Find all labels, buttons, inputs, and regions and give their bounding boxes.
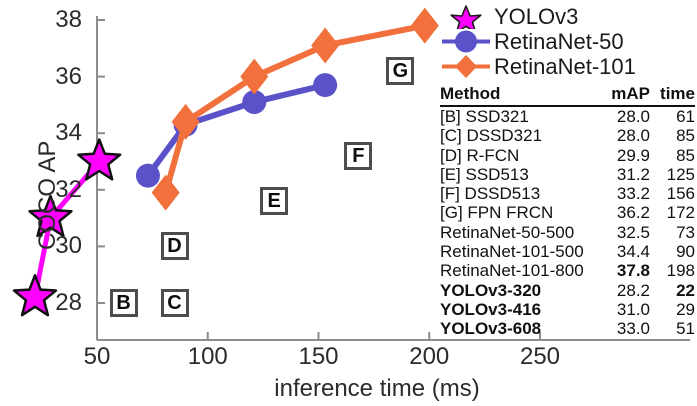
table-cell-method: RetinaNet-50-500 bbox=[440, 223, 592, 243]
table-cell-time: 73 bbox=[650, 223, 695, 243]
annotation-box-b: B bbox=[110, 289, 138, 317]
x-tick-200: 200 bbox=[389, 345, 469, 369]
series-line-retinanet-101 bbox=[166, 26, 425, 193]
chart-legend: YOLOv3 RetinaNet-50 RetinaNet-101 bbox=[438, 4, 694, 79]
table-cell-method: RetinaNet-101-800 bbox=[440, 261, 592, 281]
table-cell-map: 33.0 bbox=[592, 319, 650, 339]
table-cell-time: 51 bbox=[650, 319, 695, 339]
table-cell-time: 125 bbox=[650, 165, 695, 185]
legend-item: RetinaNet-50 bbox=[438, 29, 694, 54]
table-cell-time: 29 bbox=[650, 300, 695, 320]
table-cell-map: 28.2 bbox=[592, 281, 650, 301]
x-axis-title: inference time (ms) bbox=[207, 375, 547, 403]
chart-root: 283032343638 50100150200250 inference ti… bbox=[0, 0, 697, 406]
table-cell-map: 34.4 bbox=[592, 242, 650, 262]
table-cell-time: 61 bbox=[650, 107, 695, 127]
table-row: [F] DSSD51333.2156 bbox=[440, 184, 695, 203]
y-tick-38: 38 bbox=[22, 8, 82, 32]
annotation-box-g: G bbox=[386, 57, 414, 85]
annotation-box-d: D bbox=[161, 232, 189, 260]
annotation-box-f: F bbox=[344, 142, 372, 170]
table-cell-method: YOLOv3-608 bbox=[440, 319, 592, 339]
legend-swatch-retinanet50 bbox=[438, 29, 494, 54]
table-cell-map: 32.5 bbox=[592, 223, 650, 243]
legend-label-retinanet50: RetinaNet-50 bbox=[494, 31, 624, 53]
table-cell-time: 172 bbox=[650, 203, 695, 223]
table-cell-map: 29.9 bbox=[592, 146, 650, 166]
data-point-retinanet-50-800 bbox=[313, 73, 337, 97]
table-cell-method: [D] R-FCN bbox=[440, 146, 592, 166]
table-cell-method: YOLOv3-320 bbox=[440, 281, 592, 301]
data-point-retinanet-50-500 bbox=[136, 164, 160, 188]
table-cell-time: 85 bbox=[650, 126, 695, 146]
table-cell-map: 36.2 bbox=[592, 203, 650, 223]
table-header-row: Method mAP time bbox=[440, 84, 695, 107]
legend-item: YOLOv3 bbox=[438, 4, 694, 29]
data-point-yolov3-608 bbox=[78, 140, 120, 180]
legend-item: RetinaNet-101 bbox=[438, 54, 694, 79]
table-cell-method: [E] SSD513 bbox=[440, 165, 592, 185]
table-cell-method: [F] DSSD513 bbox=[440, 184, 592, 204]
data-point-retinanet-101-700 bbox=[311, 27, 339, 63]
legend-label-yolov3: YOLOv3 bbox=[494, 6, 578, 28]
table-body: [B] SSD32128.061[C] DSSD32128.085[D] R-F… bbox=[440, 107, 695, 339]
table-cell-method: [G] FPN FRCN bbox=[440, 203, 592, 223]
table-row: YOLOv3-32028.222 bbox=[440, 281, 695, 300]
table-cell-time: 198 bbox=[650, 261, 695, 281]
table-header-time: time bbox=[650, 84, 695, 104]
y-axis-title: COCO AP bbox=[34, 141, 62, 250]
x-tick-100: 100 bbox=[168, 345, 248, 369]
table-row: [C] DSSD32128.085 bbox=[440, 126, 695, 145]
table-row: RetinaNet-101-80037.8198 bbox=[440, 261, 695, 280]
table-cell-map: 37.8 bbox=[592, 261, 650, 281]
table-row: RetinaNet-50-50032.573 bbox=[440, 223, 695, 242]
x-tick-50: 50 bbox=[57, 345, 137, 369]
table-cell-method: RetinaNet-101-500 bbox=[440, 242, 592, 262]
table-cell-method: [C] DSSD321 bbox=[440, 126, 592, 146]
legend-swatch-retinanet101 bbox=[438, 54, 494, 79]
table-cell-map: 28.0 bbox=[592, 107, 650, 127]
annotation-box-e: E bbox=[260, 187, 288, 215]
table-cell-method: YOLOv3-416 bbox=[440, 300, 592, 320]
table-cell-map: 33.2 bbox=[592, 184, 650, 204]
y-tick-36: 36 bbox=[22, 65, 82, 89]
table-cell-time: 22 bbox=[650, 281, 695, 301]
data-point-retinanet-101-800 bbox=[411, 8, 439, 44]
table-cell-time: 90 bbox=[650, 242, 695, 262]
results-table: Method mAP time [B] SSD32128.061[C] DSSD… bbox=[440, 84, 695, 339]
legend-swatch-yolov3 bbox=[438, 4, 494, 29]
legend-label-retinanet101: RetinaNet-101 bbox=[494, 56, 636, 78]
table-cell-map: 31.2 bbox=[592, 165, 650, 185]
annotation-box-c: C bbox=[161, 289, 189, 317]
table-cell-method: [B] SSD321 bbox=[440, 107, 592, 127]
data-point-retinanet-101-600 bbox=[240, 59, 268, 95]
table-cell-map: 28.0 bbox=[592, 126, 650, 146]
table-row: [G] FPN FRCN36.2172 bbox=[440, 203, 695, 222]
table-cell-map: 31.0 bbox=[592, 300, 650, 320]
data-series-layer bbox=[14, 8, 439, 315]
table-cell-time: 85 bbox=[650, 146, 695, 166]
table-header-method: Method bbox=[440, 84, 592, 104]
x-tick-250: 250 bbox=[500, 345, 580, 369]
table-row: [E] SSD51331.2125 bbox=[440, 165, 695, 184]
table-row: RetinaNet-101-50034.490 bbox=[440, 242, 695, 261]
table-row: [D] R-FCN29.985 bbox=[440, 146, 695, 165]
table-row: [B] SSD32128.061 bbox=[440, 107, 695, 126]
table-header-map: mAP bbox=[592, 84, 650, 104]
table-row: YOLOv3-60833.051 bbox=[440, 319, 695, 338]
y-tick-28: 28 bbox=[22, 291, 82, 315]
table-cell-time: 156 bbox=[650, 184, 695, 204]
table-row: YOLOv3-41631.029 bbox=[440, 300, 695, 319]
x-tick-150: 150 bbox=[279, 345, 359, 369]
